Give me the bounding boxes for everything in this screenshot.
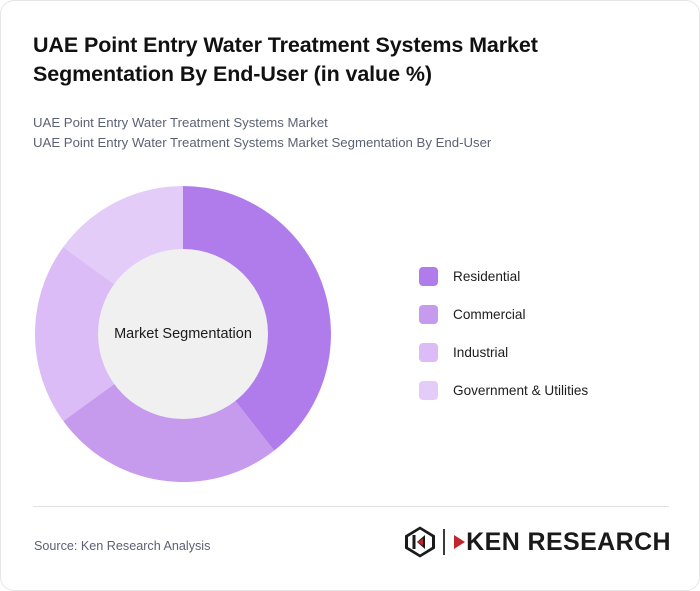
legend-item[interactable]: Government & Utilities: [419, 371, 669, 409]
legend-item[interactable]: Industrial: [419, 333, 669, 371]
chart-card: UAE Point Entry Water Treatment Systems …: [0, 0, 700, 591]
subtitle-block: UAE Point Entry Water Treatment Systems …: [33, 113, 653, 153]
ken-research-logo: KEN RESEARCH: [404, 524, 671, 560]
page-title: UAE Point Entry Water Treatment Systems …: [33, 31, 643, 89]
logo-text: KEN RESEARCH: [466, 530, 671, 555]
footer-divider: [33, 506, 669, 507]
donut-chart: Market Segmentation: [33, 184, 333, 484]
donut-svg: [33, 184, 333, 484]
source-note: Source: Ken Research Analysis: [34, 539, 210, 553]
logo-red-triangle-icon: [454, 535, 465, 549]
legend-swatch-icon: [419, 381, 438, 400]
legend-item[interactable]: Residential: [419, 257, 669, 295]
legend-label: Government & Utilities: [453, 383, 588, 398]
donut-inner-circle: [98, 249, 268, 419]
subtitle-line-1: UAE Point Entry Water Treatment Systems …: [33, 113, 653, 133]
ken-research-badge-icon: [404, 526, 436, 558]
legend-item[interactable]: Commercial: [419, 295, 669, 333]
chart-area: Market Segmentation ResidentialCommercia…: [1, 169, 700, 499]
legend-label: Residential: [453, 269, 520, 284]
legend-label: Commercial: [453, 307, 526, 322]
legend-swatch-icon: [419, 343, 438, 362]
legend-swatch-icon: [419, 305, 438, 324]
subtitle-line-2: UAE Point Entry Water Treatment Systems …: [33, 133, 653, 153]
legend-label: Industrial: [453, 345, 508, 360]
logo-divider-bar: [443, 529, 445, 555]
chart-legend: ResidentialCommercialIndustrialGovernmen…: [419, 257, 669, 409]
legend-swatch-icon: [419, 267, 438, 286]
